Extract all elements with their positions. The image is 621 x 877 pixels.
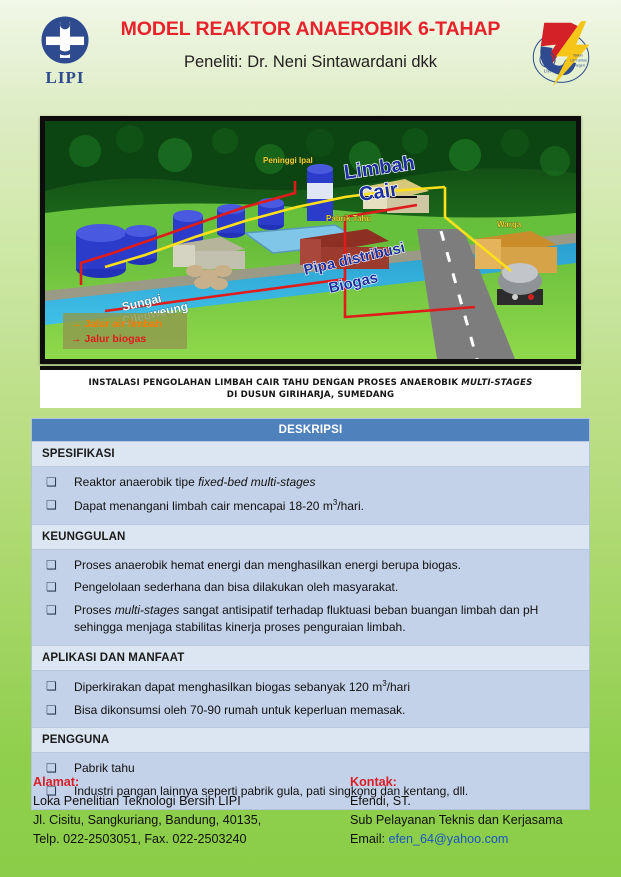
list-item: ❑ Reaktor anaerobik tipe fixed-bed multi… bbox=[32, 471, 589, 494]
email-label: Email: bbox=[350, 832, 389, 846]
svg-text:→ Jalur air limbah: → Jalur air limbah bbox=[71, 318, 162, 330]
section-body-spesifikasi: ❑ Reaktor anaerobik tipe fixed-bed multi… bbox=[32, 467, 589, 524]
item-text-post: /hari bbox=[387, 680, 410, 694]
list-item-text: Bisa dikonsumsi oleh 70-90 rumah untuk k… bbox=[74, 702, 577, 719]
section-body-aplikasi: ❑ Diperkirakan dapat menghasilkan biogas… bbox=[32, 671, 589, 728]
list-item: ❑ Bisa dikonsumsi oleh 70-90 rumah untuk… bbox=[32, 699, 589, 722]
description-table: DESKRIPSI SPESIFIKASI ❑ Reaktor anaerobi… bbox=[31, 418, 590, 810]
checkbox-bullet-icon: ❑ bbox=[42, 474, 74, 491]
section-body-keunggulan: ❑ Proses anaerobik hemat energi dan meng… bbox=[32, 550, 589, 645]
poster-page: LIPI MODEL REAKTOR ANAEROBIK 6-TAHAP Pen… bbox=[0, 0, 621, 877]
item-text-pre: Diperkirakan dapat menghasilkan biogas s… bbox=[74, 680, 382, 694]
page-subtitle: Peneliti: Dr. Neni Sintawardani dkk bbox=[108, 53, 513, 72]
list-item-text: Proses anaerobik hemat energi dan mengha… bbox=[74, 557, 577, 574]
list-item-text: Proses multi-stages sangat antisipatif t… bbox=[74, 602, 577, 636]
address-heading: Alamat: bbox=[33, 775, 261, 789]
svg-text:Tahun: Tahun bbox=[573, 53, 583, 57]
item-text-pre: Reaktor anaerobik tipe bbox=[74, 475, 198, 489]
caption-text-italic: MULTI-STAGES bbox=[461, 378, 532, 388]
poster-footer: Alamat: Loka Penelitian Teknologi Bersih… bbox=[0, 765, 621, 877]
list-item-text: Reaktor anaerobik tipe fixed-bed multi-s… bbox=[74, 474, 577, 491]
caption-line-1: INSTALASI PENGOLAHAN LIMBAH CAIR TAHU DE… bbox=[89, 377, 533, 389]
item-text-pre: Proses bbox=[74, 603, 115, 617]
page-title: MODEL REAKTOR ANAEROBIK 6-TAHAP bbox=[108, 18, 513, 41]
item-text-post: /hari. bbox=[337, 499, 364, 513]
list-item-text: Dapat menangani limbah cair mencapai 18-… bbox=[74, 497, 577, 515]
list-item-text: Pengelolaan sederhana dan bisa dilakukan… bbox=[74, 579, 577, 596]
contact-name: Efendi, ST. bbox=[350, 792, 563, 811]
section-header-keunggulan: KEUNGGULAN bbox=[32, 524, 589, 550]
svg-text:Pabrik Tahu: Pabrik Tahu bbox=[326, 214, 371, 223]
address-block: Alamat: Loka Penelitian Teknologi Bersih… bbox=[33, 775, 261, 849]
item-text-em: fixed-bed multi-stages bbox=[198, 475, 315, 489]
poster-header: LIPI MODEL REAKTOR ANAEROBIK 6-TAHAP Pen… bbox=[0, 0, 621, 105]
section-header-pengguna: PENGGUNA bbox=[32, 727, 589, 753]
list-item: ❑ Dapat menangani limbah cair mencapai 1… bbox=[32, 494, 589, 518]
section-header-spesifikasi: SPESIFIKASI bbox=[32, 441, 589, 467]
checkbox-bullet-icon: ❑ bbox=[42, 579, 74, 596]
checkbox-bullet-icon: ❑ bbox=[42, 557, 74, 574]
diagram-legend: → Jalur air limbah → Jalur biogas bbox=[63, 313, 187, 349]
svg-text:→ Jalur biogas: → Jalur biogas bbox=[71, 333, 146, 345]
list-item-text: Diperkirakan dapat menghasilkan biogas s… bbox=[74, 678, 577, 696]
contact-email-line: Email: efen_64@yahoo.com bbox=[350, 830, 563, 849]
email-link[interactable]: efen_64@yahoo.com bbox=[389, 832, 509, 846]
lipi-emblem-icon bbox=[37, 12, 93, 68]
list-item: ❑ Proses multi-stages sangat antisipatif… bbox=[32, 599, 589, 639]
svg-text:Peninggi Ipal: Peninggi Ipal bbox=[263, 156, 313, 165]
lipi-51-anniversary-logo: LIPI Tahun LIPI Untuk Negeri bbox=[519, 10, 603, 96]
title-block: MODEL REAKTOR ANAEROBIK 6-TAHAP Peneliti… bbox=[108, 18, 513, 72]
installation-diagram-photo: Limbah Cair Pipa distribusi Biogas Sunga… bbox=[40, 116, 581, 364]
lipi-logo-text: LIPI bbox=[46, 69, 85, 86]
photo-caption: INSTALASI PENGOLAHAN LIMBAH CAIR TAHU DE… bbox=[40, 366, 581, 408]
lipi-logo: LIPI bbox=[26, 12, 104, 94]
checkbox-bullet-icon: ❑ bbox=[42, 602, 74, 619]
item-text-em: multi-stages bbox=[115, 603, 180, 617]
section-header-aplikasi: APLIKASI DAN MANFAAT bbox=[32, 645, 589, 671]
contact-unit: Sub Pelayanan Teknis dan Kerjasama bbox=[350, 811, 563, 830]
item-text-pre: Dapat menangani limbah cair mencapai 18-… bbox=[74, 499, 333, 513]
caption-text-a: INSTALASI PENGOLAHAN LIMBAH CAIR TAHU DE… bbox=[89, 378, 462, 388]
checkbox-bullet-icon: ❑ bbox=[42, 678, 74, 695]
svg-text:Negeri: Negeri bbox=[574, 63, 585, 67]
address-line-1: Loka Penelitian Teknologi Bersih LIPI bbox=[33, 792, 261, 811]
caption-line-2: DI DUSUN GIRIHARJA, SUMEDANG bbox=[227, 389, 394, 401]
list-item: ❑ Diperkirakan dapat menghasilkan biogas… bbox=[32, 675, 589, 699]
checkbox-bullet-icon: ❑ bbox=[42, 702, 74, 719]
list-item: ❑ Proses anaerobik hemat energi dan meng… bbox=[32, 554, 589, 577]
checkbox-bullet-icon: ❑ bbox=[42, 497, 74, 514]
address-line-2: Jl. Cisitu, Sangkuriang, Bandung, 40135, bbox=[33, 811, 261, 830]
svg-text:LIPI: LIPI bbox=[544, 68, 552, 73]
list-item: ❑ Pengelolaan sederhana dan bisa dilakuk… bbox=[32, 576, 589, 599]
diagram-illustration: Limbah Cair Pipa distribusi Biogas Sunga… bbox=[45, 121, 576, 359]
table-header: DESKRIPSI bbox=[32, 419, 589, 441]
svg-text:LIPI Untuk: LIPI Untuk bbox=[570, 58, 587, 62]
contact-heading: Kontak: bbox=[350, 775, 563, 789]
address-line-3: Telp. 022-2503051, Fax. 022-2503240 bbox=[33, 830, 261, 849]
contact-block: Kontak: Efendi, ST. Sub Pelayanan Teknis… bbox=[350, 775, 563, 849]
svg-text:Warga: Warga bbox=[497, 220, 522, 229]
